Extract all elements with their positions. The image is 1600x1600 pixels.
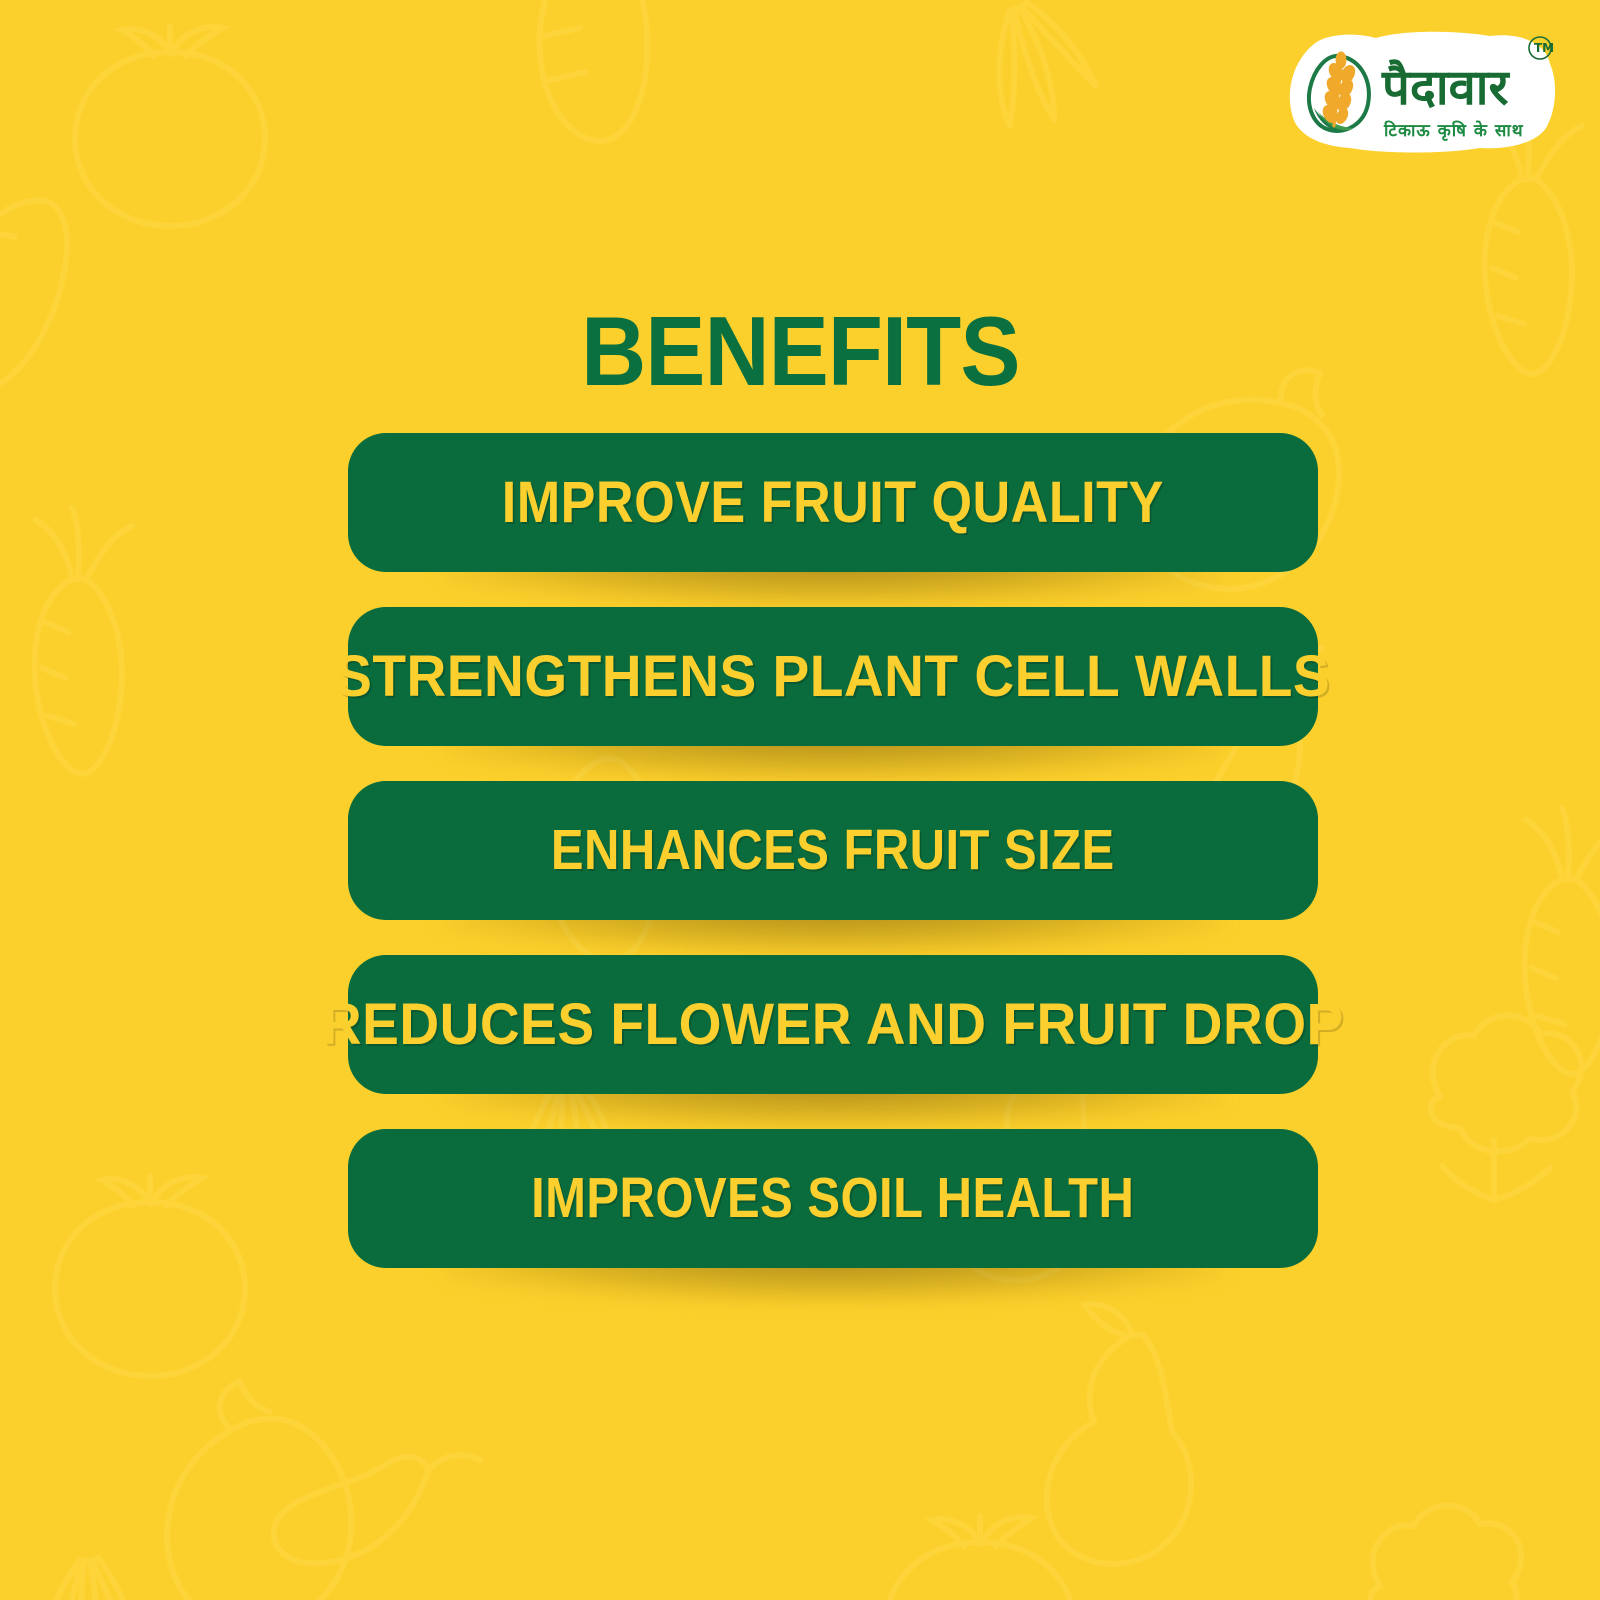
benefit-label: IMPROVE FRUIT QUALITY: [502, 474, 1164, 532]
benefit-label: REDUCES FLOWER AND FRUIT DROP: [322, 996, 1344, 1054]
benefits-poster: पैदावार टिकाऊ कृषि के साथ TM BENEFITS IM…: [0, 0, 1600, 1600]
benefit-label: ENHANCES FRUIT SIZE: [551, 822, 1115, 879]
benefit-label: STRENGTHENS PLANT CELL WALLS: [336, 648, 1331, 706]
benefit-item-4[interactable]: REDUCES FLOWER AND FRUIT DROP: [348, 955, 1318, 1094]
benefit-item-3[interactable]: ENHANCES FRUIT SIZE: [348, 781, 1318, 920]
benefit-pill[interactable]: REDUCES FLOWER AND FRUIT DROP: [348, 955, 1318, 1094]
page-title: BENEFITS: [0, 302, 1600, 400]
benefit-label: IMPROVES SOIL HEALTH: [531, 1170, 1134, 1227]
brand-logo[interactable]: पैदावार टिकाऊ कृषि के साथ TM: [1284, 30, 1562, 154]
benefit-item-5[interactable]: IMPROVES SOIL HEALTH: [348, 1129, 1318, 1268]
benefit-item-1[interactable]: IMPROVE FRUIT QUALITY: [348, 433, 1318, 572]
logo-tagline: टिकाऊ कृषि के साथ: [1383, 120, 1524, 141]
logo-wordmark: पैदावार: [1381, 59, 1510, 116]
benefit-pill[interactable]: STRENGTHENS PLANT CELL WALLS: [348, 607, 1318, 746]
benefit-item-2[interactable]: STRENGTHENS PLANT CELL WALLS: [348, 607, 1318, 746]
benefit-pill[interactable]: IMPROVE FRUIT QUALITY: [348, 433, 1318, 572]
benefit-pill[interactable]: IMPROVES SOIL HEALTH: [348, 1129, 1318, 1268]
benefits-list: IMPROVE FRUIT QUALITY STRENGTHENS PLANT …: [348, 433, 1318, 1268]
page-title-text: BENEFITS: [581, 302, 1019, 400]
benefit-pill[interactable]: ENHANCES FRUIT SIZE: [348, 781, 1318, 920]
